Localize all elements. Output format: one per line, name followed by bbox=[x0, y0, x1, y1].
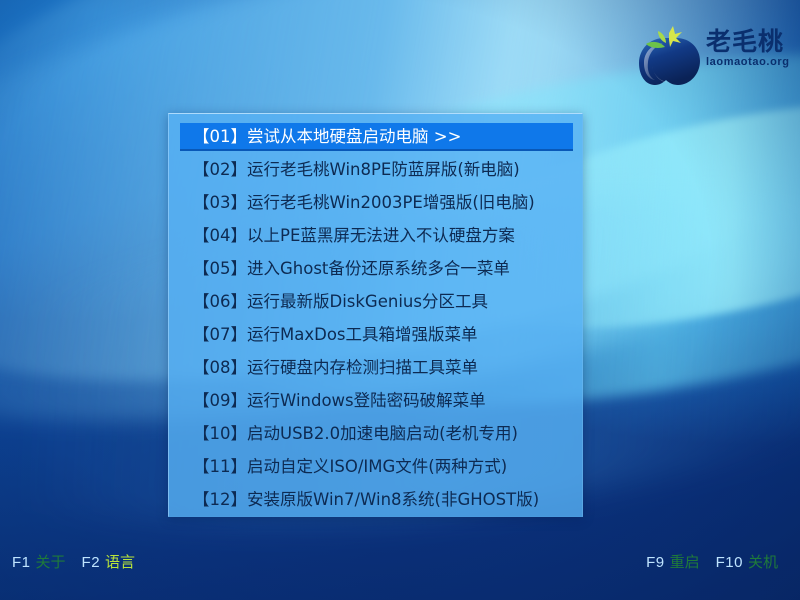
peach-logo-icon bbox=[636, 16, 706, 90]
function-key-f2[interactable]: F2 bbox=[82, 554, 101, 571]
boot-menu-item-12[interactable]: 【12】安装原版Win7/Win8系统(非GHOST版) bbox=[180, 486, 573, 514]
boot-menu-panel: 【01】尝试从本地硬盘启动电脑 >>【02】运行老毛桃Win8PE防蓝屏版(新电… bbox=[168, 113, 583, 517]
boot-menu-screen: 老毛桃 laomaotao.org 【01】尝试从本地硬盘启动电脑 >>【02】… bbox=[0, 0, 800, 600]
brand-name-cn: 老毛桃 bbox=[706, 28, 792, 55]
boot-menu-item-03[interactable]: 【03】运行老毛桃Win2003PE增强版(旧电脑) bbox=[180, 189, 573, 217]
boot-menu-item-07[interactable]: 【07】运行MaxDos工具箱增强版菜单 bbox=[180, 321, 573, 349]
brand-wordmark: 老毛桃 laomaotao.org bbox=[706, 28, 792, 69]
boot-menu-item-10[interactable]: 【10】启动USB2.0加速电脑启动(老机专用) bbox=[180, 420, 573, 448]
boot-menu-item-05[interactable]: 【05】进入Ghost备份还原系统多合一菜单 bbox=[180, 255, 573, 283]
function-key-label-f10[interactable]: 关机 bbox=[748, 553, 778, 571]
footer-right-keys: F9重启F10关机 bbox=[646, 551, 794, 572]
function-key-f10[interactable]: F10 bbox=[716, 554, 743, 571]
function-key-label-f9[interactable]: 重启 bbox=[670, 553, 700, 571]
boot-menu-item-08[interactable]: 【08】运行硬盘内存检测扫描工具菜单 bbox=[180, 354, 573, 382]
function-key-label-f1[interactable]: 关于 bbox=[36, 553, 66, 571]
boot-menu-item-11[interactable]: 【11】启动自定义ISO/IMG文件(两种方式) bbox=[180, 453, 573, 481]
boot-menu-item-09[interactable]: 【09】运行Windows登陆密码破解菜单 bbox=[180, 387, 573, 415]
boot-menu-item-01[interactable]: 【01】尝试从本地硬盘启动电脑 >> bbox=[180, 123, 573, 151]
function-key-f1[interactable]: F1 bbox=[12, 554, 31, 571]
footer-left-keys: F1关于F2语言 bbox=[12, 551, 135, 572]
brand-logo: 老毛桃 laomaotao.org bbox=[636, 14, 792, 92]
function-key-label-f2[interactable]: 语言 bbox=[105, 553, 135, 571]
boot-menu-item-02[interactable]: 【02】运行老毛桃Win8PE防蓝屏版(新电脑) bbox=[180, 156, 573, 184]
boot-menu-item-04[interactable]: 【04】以上PE蓝黑屏无法进入不认硬盘方案 bbox=[180, 222, 573, 250]
function-key-f9[interactable]: F9 bbox=[646, 554, 665, 571]
brand-url: laomaotao.org bbox=[706, 55, 792, 69]
boot-menu-item-06[interactable]: 【06】运行最新版DiskGenius分区工具 bbox=[180, 288, 573, 316]
